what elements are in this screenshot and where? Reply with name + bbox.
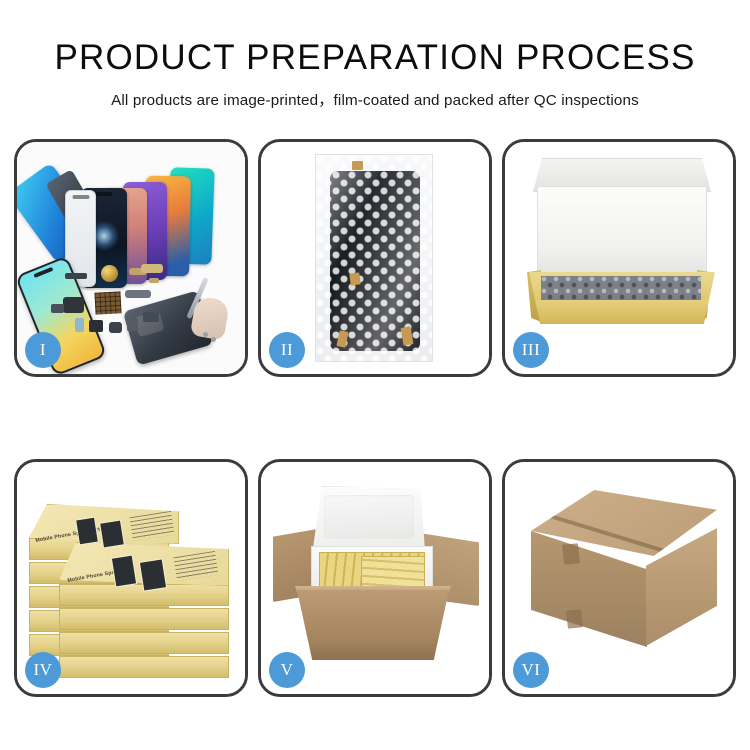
round-component-icon <box>101 265 118 282</box>
screws-icon <box>203 332 219 344</box>
bubble-wrap-bag-icon <box>315 154 433 362</box>
header: PRODUCT PREPARATION PROCESS All products… <box>0 0 750 110</box>
step-badge-5: V <box>269 652 305 688</box>
step-panel-6: VI <box>502 459 736 697</box>
step-panel-5: V <box>258 459 492 697</box>
step-panel-3: III <box>502 139 736 377</box>
step-panel-2: II <box>258 139 492 377</box>
step-badge-3: III <box>513 332 549 368</box>
foam-lid-icon <box>313 486 425 550</box>
grey-foam-pad-icon <box>541 276 701 304</box>
stacked-boxes-icon: Mobile Phone Spare Parts Mobile Phone Sp… <box>25 484 243 684</box>
carton-body-icon <box>297 590 449 660</box>
step-badge-2: II <box>269 332 305 368</box>
step-panel-4: Mobile Phone Spare Parts Mobile Phone Sp… <box>14 459 248 697</box>
process-steps-grid: I II <box>14 139 736 697</box>
step-badge-6: VI <box>513 652 549 688</box>
white-foam-sheet-icon <box>537 186 707 276</box>
page-title: PRODUCT PREPARATION PROCESS <box>0 40 750 77</box>
product-preparation-infographic: PRODUCT PREPARATION PROCESS All products… <box>0 0 750 750</box>
tape-patch-lower-icon <box>566 609 583 628</box>
step-badge-1: I <box>25 332 61 368</box>
chip-grid-icon <box>94 291 121 314</box>
step-badge-4: IV <box>25 652 61 688</box>
step-panel-1: I <box>14 139 248 377</box>
page-subtitle: All products are image-printed，film-coat… <box>0 88 750 110</box>
tape-patch-upper-icon <box>562 543 580 565</box>
